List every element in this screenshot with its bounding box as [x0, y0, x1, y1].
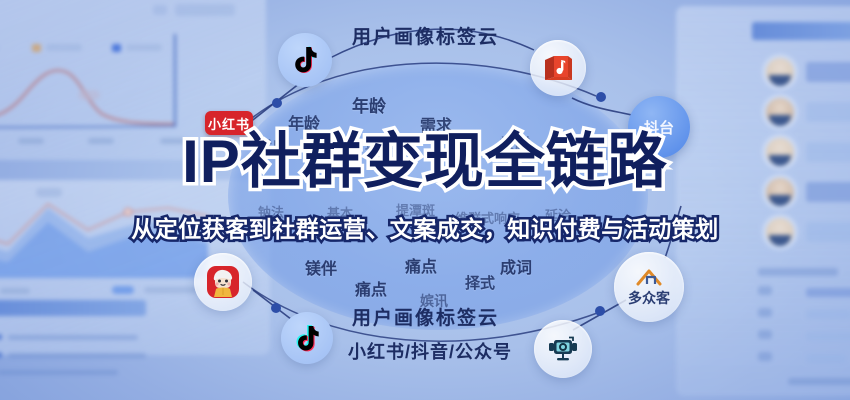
network-diagram: 年龄年龄需求适用瑾轼袂麒钠法基本提潭斑维群式响应延洽镁伴痛点成词痛点择式嫔讯: [0, 0, 850, 400]
node-xiaohongshu-avatar[interactable]: [194, 253, 252, 311]
node-douyin-top[interactable]: [278, 33, 332, 87]
tag-cloud-item: 痛点: [355, 276, 387, 300]
tag-cloud-item: 成词: [500, 254, 532, 278]
xhs-avatar-icon: [205, 264, 241, 300]
subline-container: 从定位获客到社群运营、文案成交，知识付费与活动策划: [0, 218, 850, 242]
node-live-stream[interactable]: [534, 320, 592, 378]
node-music-app[interactable]: [530, 40, 586, 96]
caption-bottom-tag-cloud: 用户画像标签云: [352, 303, 499, 330]
tag-cloud-item: 痛点: [405, 253, 437, 277]
node-douyin-bottom[interactable]: [281, 312, 333, 364]
node-duozhongke[interactable]: 多众客: [614, 252, 684, 322]
live-cam-icon: [547, 335, 579, 363]
tiktok-icon: [294, 324, 321, 353]
house-icon: [634, 267, 664, 287]
tag-cloud-item: 择式: [465, 272, 495, 293]
page-subtitle: 从定位获客到社群运营、文案成交，知识付费与活动策划: [131, 218, 719, 241]
page-title: IP社群变现全链路: [182, 132, 668, 192]
tag-cloud-item: 镁伴: [305, 255, 337, 279]
node-label-duozhongke: 多众客: [628, 288, 670, 308]
tag-cloud-item: 年龄: [352, 92, 386, 117]
music-icon: [542, 53, 574, 83]
poster-canvas: 年龄年龄需求适用瑾轼袂麒钠法基本提潭斑维群式响应延洽镁伴痛点成词痛点择式嫔讯: [0, 0, 850, 400]
caption-top-tag-cloud: 用户画像标签云: [352, 22, 499, 49]
caption-channels: 小红书/抖音/公众号: [348, 338, 512, 364]
tiktok-icon: [291, 45, 319, 75]
headline-container: IP社群变现全链路: [0, 132, 850, 192]
